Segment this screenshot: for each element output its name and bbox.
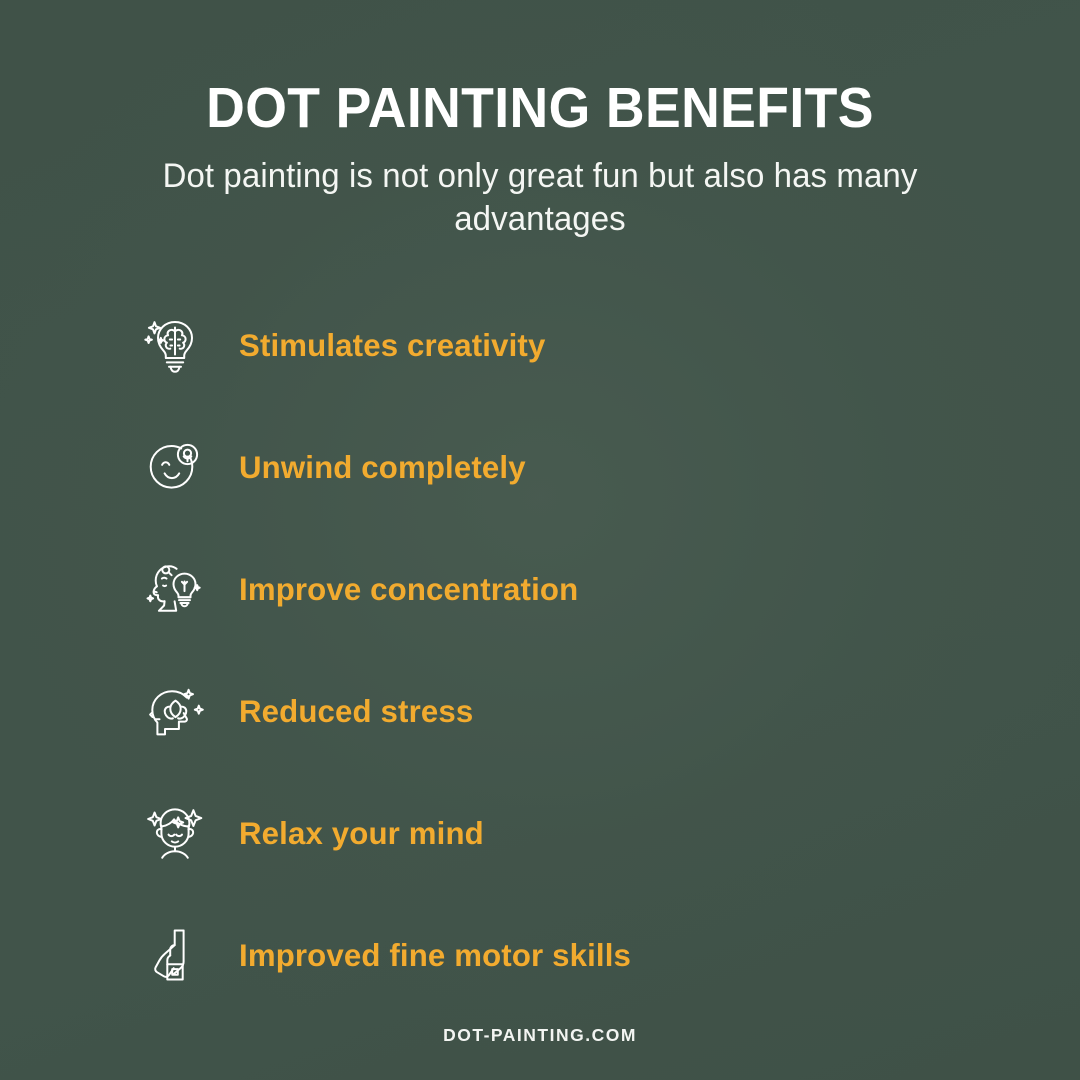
benefit-item-reduced-stress: Reduced stress bbox=[0, 650, 1080, 772]
head-profile-lightbulb-icon bbox=[140, 554, 210, 624]
benefit-item-stimulates-creativity: Stimulates creativity bbox=[0, 284, 1080, 406]
benefit-item-unwind-completely: Unwind completely bbox=[0, 406, 1080, 528]
benefit-label: Reduced stress bbox=[239, 692, 473, 730]
brain-lightbulb-icon bbox=[140, 310, 210, 380]
page-title: DOT PAINTING BENEFITS bbox=[32, 72, 1047, 144]
page-subtitle: Dot painting is not only great fun but a… bbox=[16, 155, 1064, 241]
benefit-label: Unwind completely bbox=[239, 448, 526, 486]
hand-pinching-icon bbox=[140, 920, 210, 990]
footer-website: DOT-PAINTING.COM bbox=[0, 1024, 1080, 1046]
benefit-label: Improved fine motor skills bbox=[239, 936, 631, 974]
benefits-list: Stimulates creativity Unwind completely bbox=[0, 284, 1080, 1016]
winking-face-flower-icon bbox=[140, 432, 210, 502]
benefit-item-improve-concentration: Improve concentration bbox=[0, 528, 1080, 650]
head-lotus-icon bbox=[140, 676, 210, 746]
benefit-item-relax-your-mind: Relax your mind bbox=[0, 772, 1080, 894]
benefit-label: Improve concentration bbox=[239, 570, 578, 608]
benefit-item-improved-fine-motor-skills: Improved fine motor skills bbox=[0, 894, 1080, 1016]
calm-face-sparkles-icon bbox=[140, 798, 210, 868]
infographic-poster: DOT PAINTING BENEFITS Dot painting is no… bbox=[0, 0, 1080, 1080]
benefit-label: Relax your mind bbox=[239, 814, 484, 852]
benefit-label: Stimulates creativity bbox=[239, 326, 545, 364]
